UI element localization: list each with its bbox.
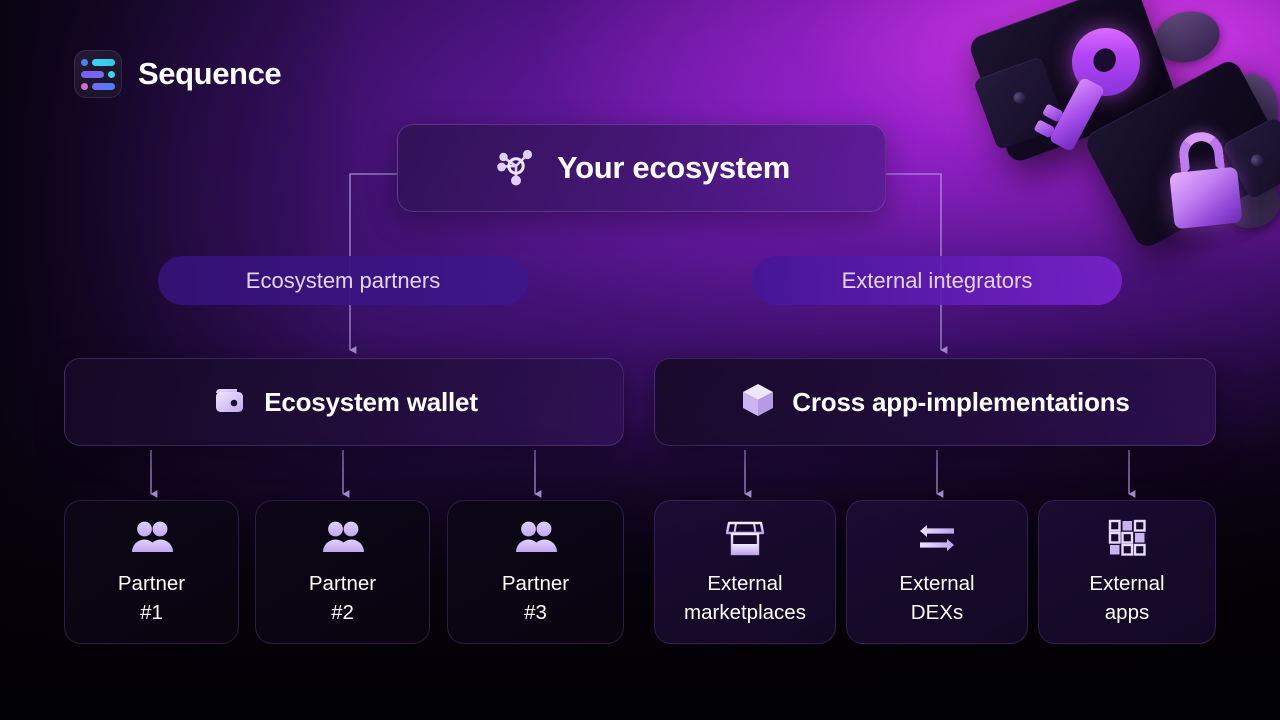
card-external-marketplaces[interactable]: External marketplaces xyxy=(654,500,836,644)
network-hub-icon xyxy=(493,143,539,194)
node-label: Ecosystem wallet xyxy=(264,387,478,418)
pill-external-integrators[interactable]: External integrators xyxy=(752,256,1122,305)
node-cross-app-implementations[interactable]: Cross app-implementations xyxy=(654,358,1216,446)
people-icon xyxy=(320,517,366,559)
cube-icon xyxy=(740,381,776,424)
card-external-dexs[interactable]: External DEXs xyxy=(846,500,1028,644)
card-partner-1[interactable]: Partner #1 xyxy=(64,500,239,644)
card-external-apps[interactable]: External apps xyxy=(1038,500,1216,644)
card-label: External DEXs xyxy=(899,569,974,627)
card-label: Partner #3 xyxy=(502,569,569,627)
people-icon xyxy=(129,517,175,559)
storefront-icon xyxy=(724,517,766,559)
apps-grid-icon xyxy=(1107,517,1147,559)
swap-arrows-icon xyxy=(915,517,959,559)
card-partner-2[interactable]: Partner #2 xyxy=(255,500,430,644)
sequence-logo-icon xyxy=(74,50,122,98)
pill-label: External integrators xyxy=(842,268,1033,294)
brand-logo: Sequence xyxy=(74,50,281,98)
node-label: Your ecosystem xyxy=(557,150,790,186)
hero-3d-art xyxy=(960,0,1280,272)
node-your-ecosystem[interactable]: Your ecosystem xyxy=(397,124,886,212)
padlock-3d-icon xyxy=(1161,128,1247,231)
card-partner-3[interactable]: Partner #3 xyxy=(447,500,624,644)
pill-label: Ecosystem partners xyxy=(246,268,440,294)
node-label: Cross app-implementations xyxy=(792,387,1129,418)
card-label: Partner #2 xyxy=(309,569,376,627)
diagram-canvas: Sequence xyxy=(0,0,1280,720)
node-ecosystem-wallet[interactable]: Ecosystem wallet xyxy=(64,358,624,446)
brand-name: Sequence xyxy=(138,56,281,92)
card-label: External marketplaces xyxy=(684,569,806,627)
wallet-icon xyxy=(210,381,248,424)
pill-ecosystem-partners[interactable]: Ecosystem partners xyxy=(158,256,528,305)
card-label: External apps xyxy=(1089,569,1164,627)
card-label: Partner #1 xyxy=(118,569,185,627)
people-icon xyxy=(513,517,559,559)
